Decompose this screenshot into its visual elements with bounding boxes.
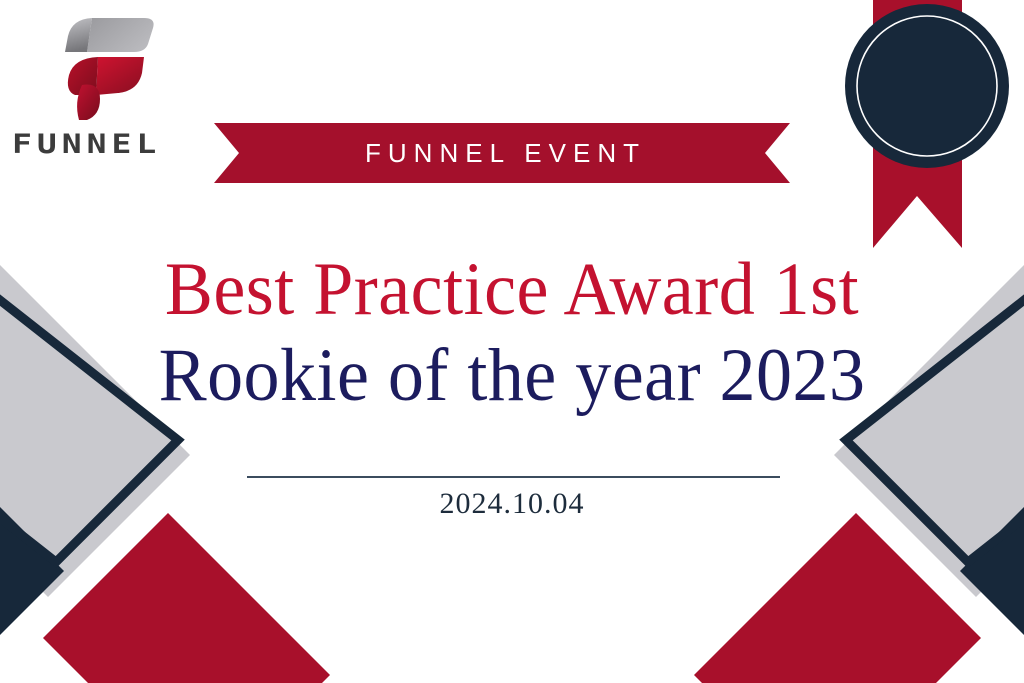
event-ribbon-label: FUNNEL EVENT [214, 123, 790, 183]
funnel-f-logo-icon [48, 12, 158, 120]
brand-wordmark: FUNNEL [12, 130, 197, 157]
award-medal-rosette [845, 0, 1010, 253]
brand-logo: FUNNEL [8, 12, 198, 172]
event-date: 2024.10.04 [0, 487, 1024, 521]
left-red-diamond [43, 513, 330, 683]
logo-red-mid-right [96, 57, 144, 95]
medal-disc [845, 4, 1009, 168]
award-title-line-1: Best Practice Award 1st [20, 247, 1003, 333]
headline-block: Best Practice Award 1st Rookie of the ye… [0, 247, 1024, 419]
right-red-diamond [694, 513, 981, 683]
award-title-line-2: Rookie of the year 2023 [20, 333, 1003, 419]
event-ribbon: FUNNEL EVENT [214, 123, 790, 183]
logo-red-tail [77, 85, 100, 120]
headline-divider [247, 476, 780, 478]
award-banner: FUNNEL FUNNEL EVENT Best Practice Award … [0, 0, 1024, 683]
logo-gray-top-right [87, 18, 154, 52]
